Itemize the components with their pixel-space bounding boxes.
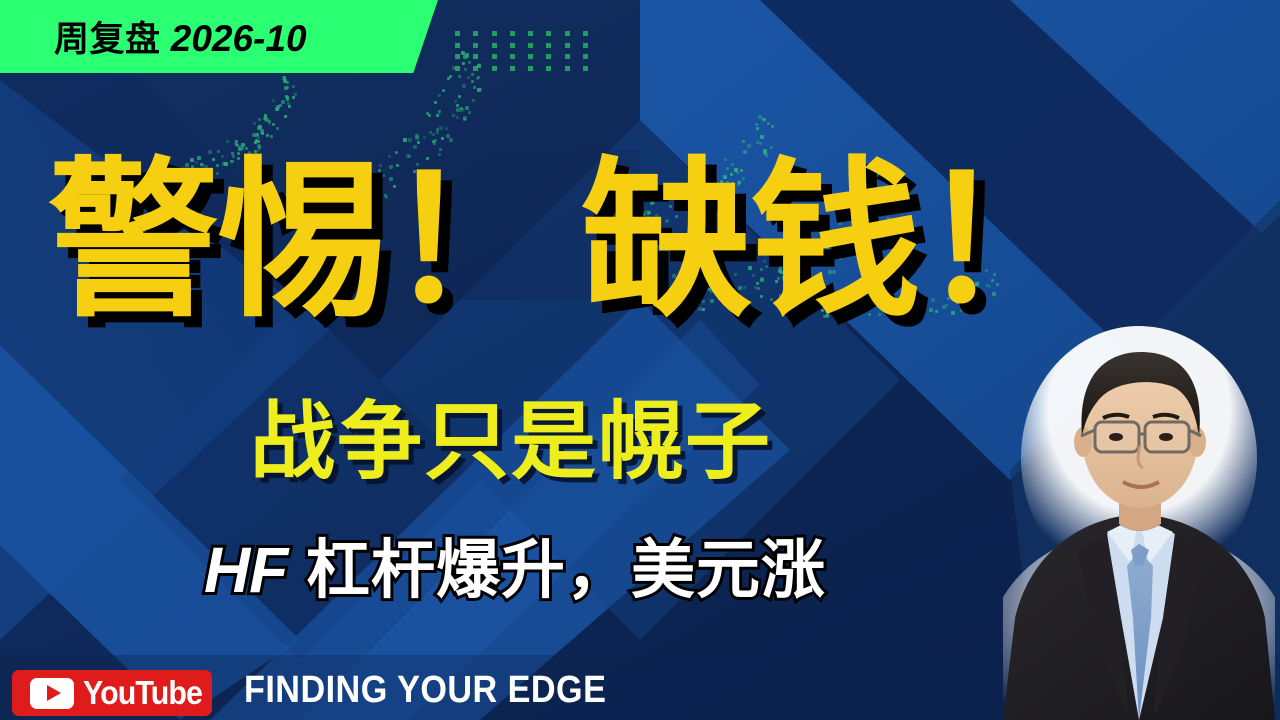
date-badge-date: 2026-10 — [171, 18, 307, 59]
date-badge-text: 周复盘 2026-10 — [54, 11, 307, 62]
subtitle-primary: 战争只是幌子 — [0, 398, 1022, 487]
headline-right: 缺钱！ — [581, 156, 1088, 327]
youtube-label: YouTube — [83, 674, 202, 712]
presenter-portrait — [1003, 318, 1275, 720]
channel-tagline: FINDING YOUR EDGE — [244, 669, 606, 712]
headline-left: 警惕！ — [48, 156, 555, 327]
subtitle-secondary-text: 杠杆爆升，美元涨 — [287, 534, 826, 606]
youtube-badge[interactable]: YouTube — [12, 670, 212, 716]
thumbnail-canvas: 周复盘 2026-10 警惕！ 缺钱！ 战争只是幌子 HF 杠杆爆升，美元涨 — [0, 0, 1280, 720]
headline: 警惕！ 缺钱！ — [48, 141, 1088, 341]
play-triangle-icon — [30, 678, 74, 709]
date-badge: 周复盘 2026-10 — [0, 0, 438, 73]
subtitle-secondary: HF 杠杆爆升，美元涨 — [0, 535, 1030, 605]
subtitle-secondary-prefix: HF — [204, 534, 287, 606]
date-badge-label: 周复盘 — [54, 20, 161, 59]
